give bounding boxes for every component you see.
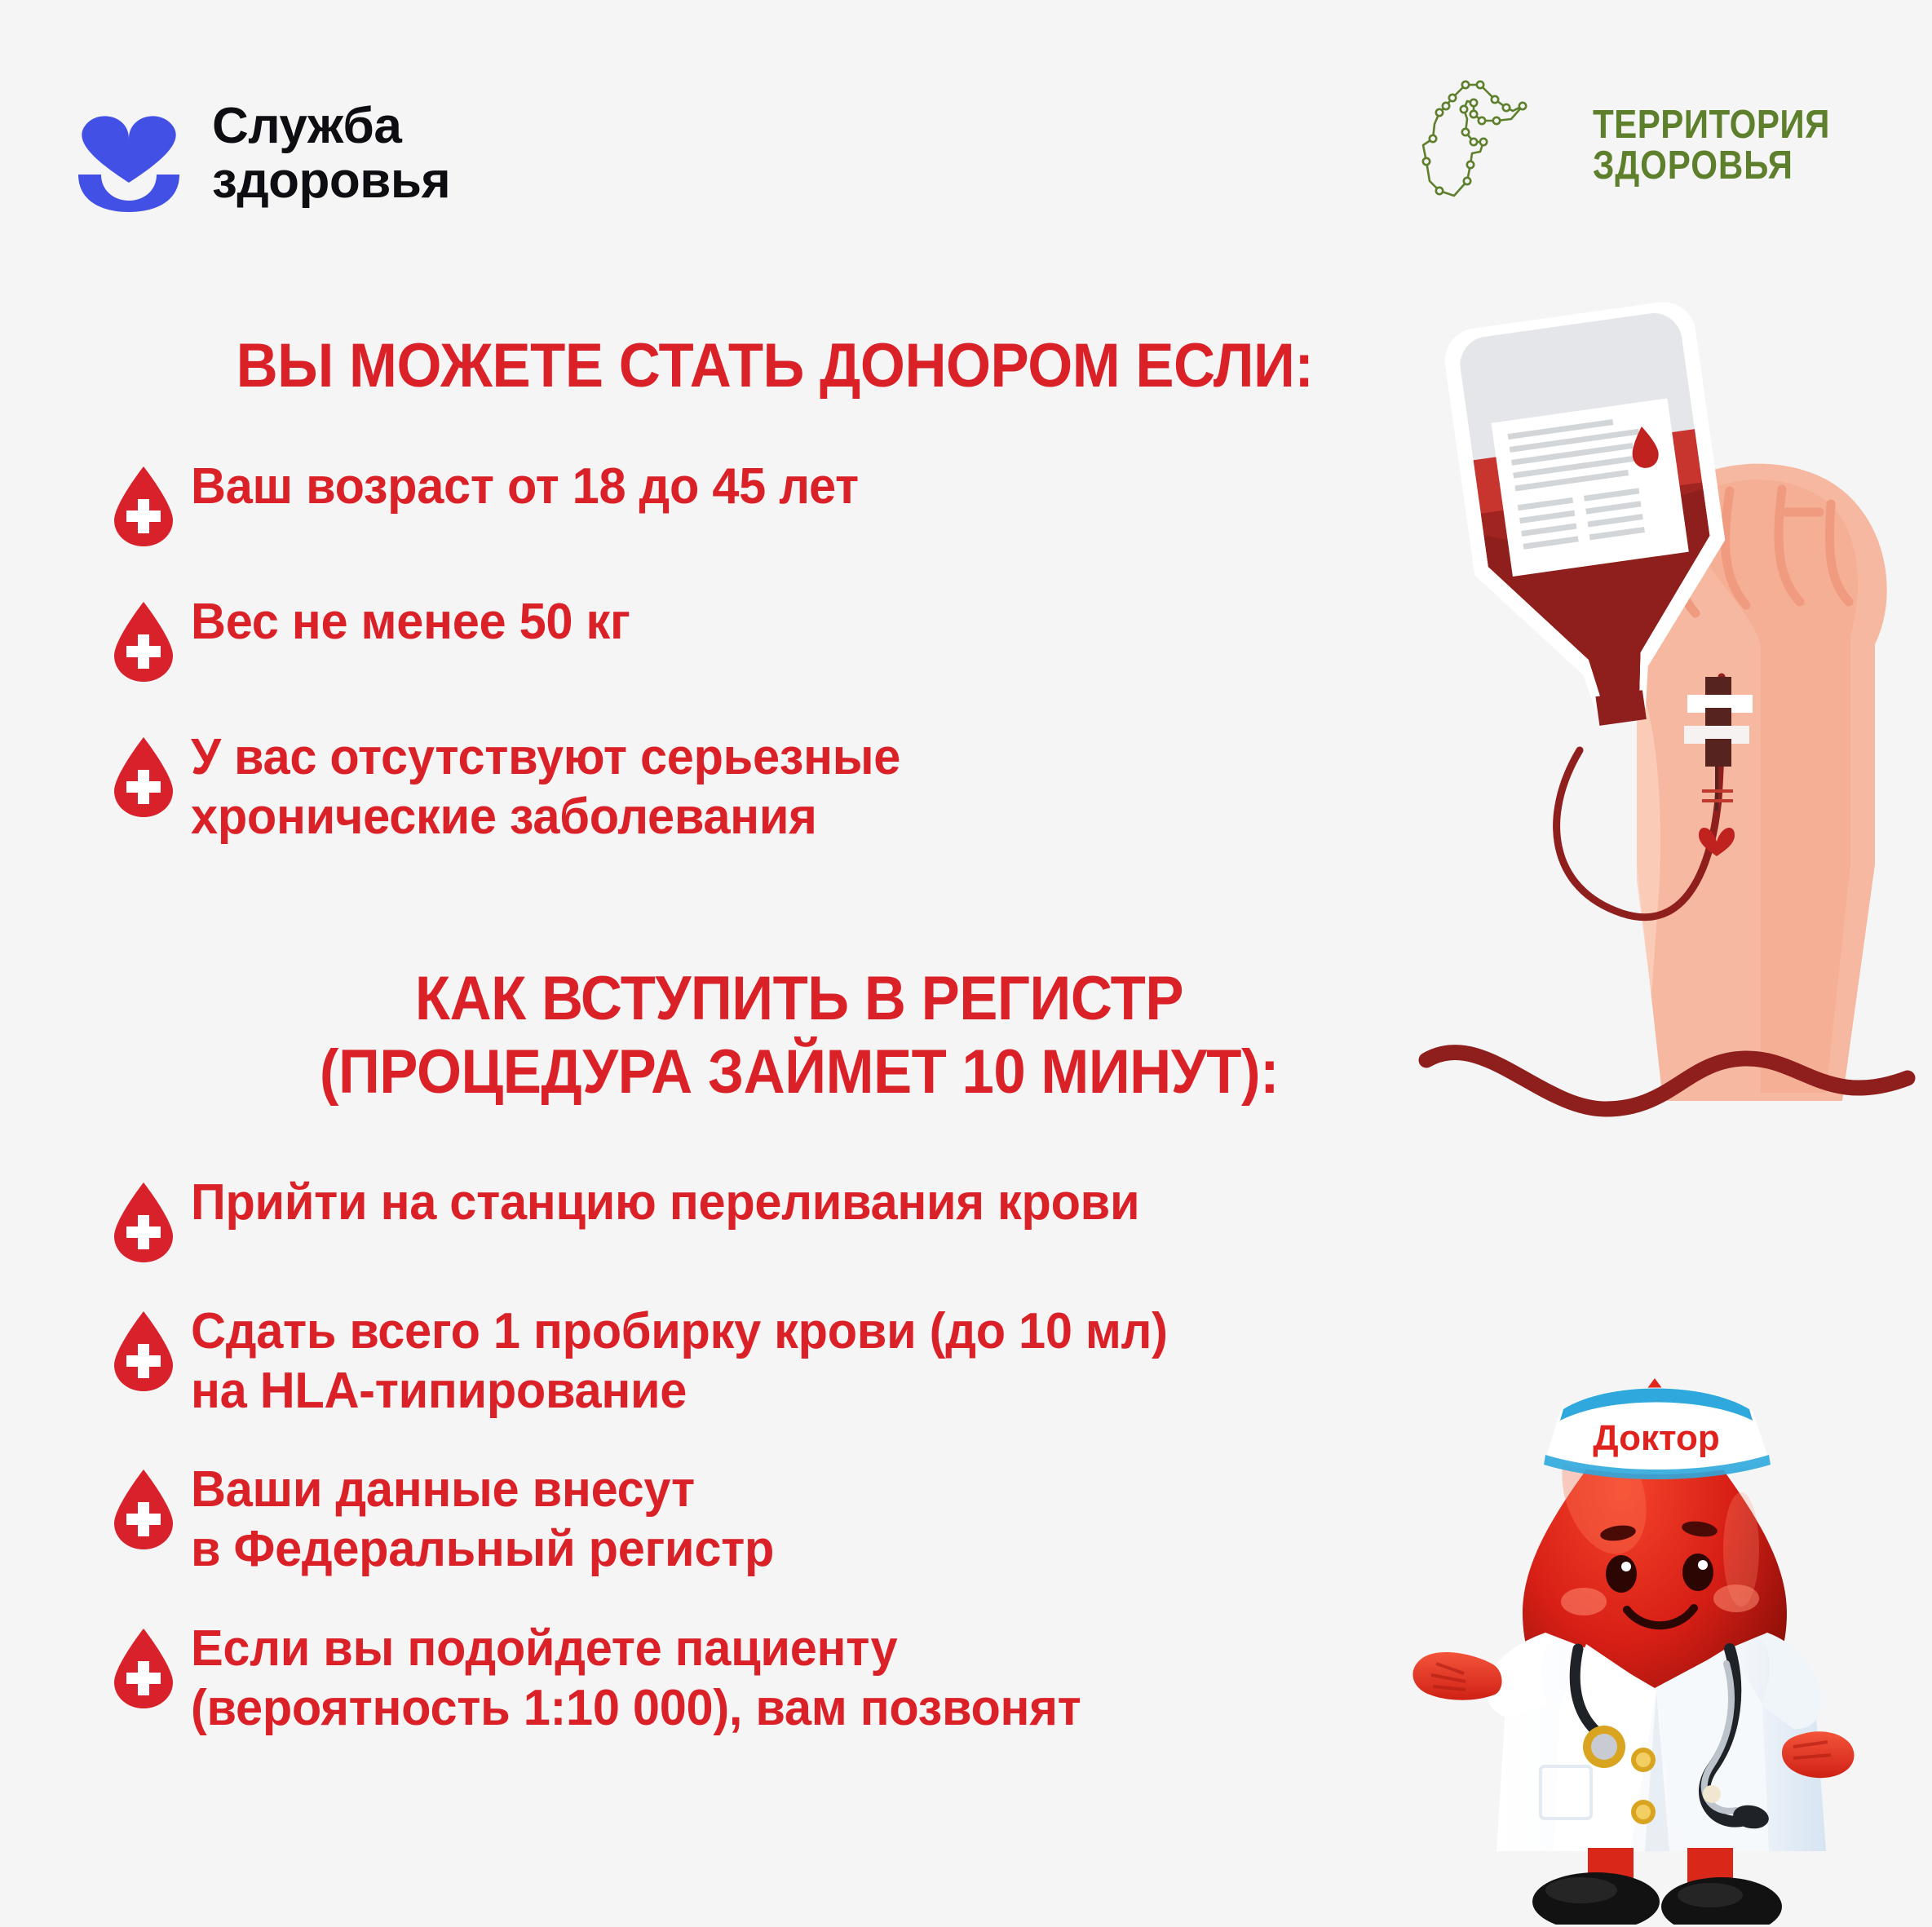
blood-drop-cross-icon — [114, 1470, 173, 1549]
list-item-label: Сдать всего 1 пробирку крови (до 10 мл) … — [191, 1302, 1168, 1421]
brand-sluzhba-zdorovya: Служба здоровья — [75, 96, 450, 212]
registry-steps-list: Прийти на станцию переливания крови Сдат… — [114, 1173, 1435, 1777]
section-2-heading: КАК ВСТУПИТЬ В РЕГИСТР (ПРОЦЕДУРА ЗАЙМЕТ… — [155, 962, 1444, 1108]
list-item: Вес не менее 50 кг — [114, 592, 1435, 682]
blood-drop-cross-icon — [114, 737, 173, 817]
list-item: Ваш возраст от 18 до 45 лет — [114, 457, 1435, 546]
brand-right-line1: ТЕРРИТОРИЯ — [1593, 105, 1830, 146]
blood-drop-cross-icon — [114, 1311, 173, 1391]
blood-drop-doctor-mascot-illustration: Доктор — [1386, 1280, 1916, 1925]
blood-drop-cross-icon — [114, 466, 173, 546]
brand-left-line2: здоровья — [212, 154, 450, 209]
list-item-label: Ваши данные внесут в Федеральный регистр — [191, 1460, 774, 1579]
list-item: Прийти на станцию переливания крови — [114, 1173, 1435, 1262]
legs-and-shoes-graphic — [1532, 1848, 1782, 1925]
section-1-heading: ВЫ МОЖЕТЕ СТАТЬ ДОНОРОМ ЕСЛИ: — [130, 329, 1420, 403]
list-item: Если вы подойдете пациенту (вероятность … — [114, 1619, 1435, 1738]
blood-drop-cross-icon — [114, 1629, 173, 1708]
blood-drop-cross-icon — [114, 602, 173, 682]
brand-right-line2: ЗДОРОВЬЯ — [1593, 146, 1830, 187]
list-item-label: У вас отсутствуют серьезные хронические … — [191, 727, 900, 846]
cap-label: Доктор — [1593, 1418, 1720, 1458]
blood-bag-label-graphic — [1491, 398, 1688, 576]
nurse-cap-graphic: Доктор — [1544, 1388, 1771, 1480]
list-item-label: Если вы подойдете пациенту (вероятность … — [191, 1619, 1081, 1738]
list-item-label: Ваш возраст от 18 до 45 лет — [191, 457, 859, 516]
donor-infographic-poster: Служба здоровья ТЕРРИТОРИЯ ЗДОРОВЬЯ — [0, 0, 1932, 1927]
list-item-label: Прийти на станцию переливания крови — [191, 1173, 1139, 1232]
blood-bag-and-arm-illustration — [1418, 294, 1924, 1174]
donor-requirements-list: Ваш возраст от 18 до 45 лет Вес не менее… — [114, 457, 1435, 892]
heart-smile-logo-icon — [75, 96, 183, 212]
list-item: Сдать всего 1 пробирку крови (до 10 мл) … — [114, 1302, 1435, 1421]
brand-right-wordmark: ТЕРРИТОРИЯ ЗДОРОВЬЯ — [1593, 105, 1830, 187]
brand-left-line1: Служба — [212, 99, 450, 154]
brand-territoriya-zdorovya: ТЕРРИТОРИЯ ЗДОРОВЬЯ — [1415, 73, 1868, 219]
list-item-label: Вес не менее 50 кг — [191, 592, 630, 652]
blood-drop-cross-icon — [114, 1182, 173, 1262]
region-map-dots-icon — [1415, 73, 1578, 219]
list-item: У вас отсутствуют серьезные хронические … — [114, 727, 1435, 846]
list-item: Ваши данные внесут в Федеральный регистр — [114, 1460, 1435, 1579]
brand-left-wordmark: Служба здоровья — [212, 99, 450, 209]
